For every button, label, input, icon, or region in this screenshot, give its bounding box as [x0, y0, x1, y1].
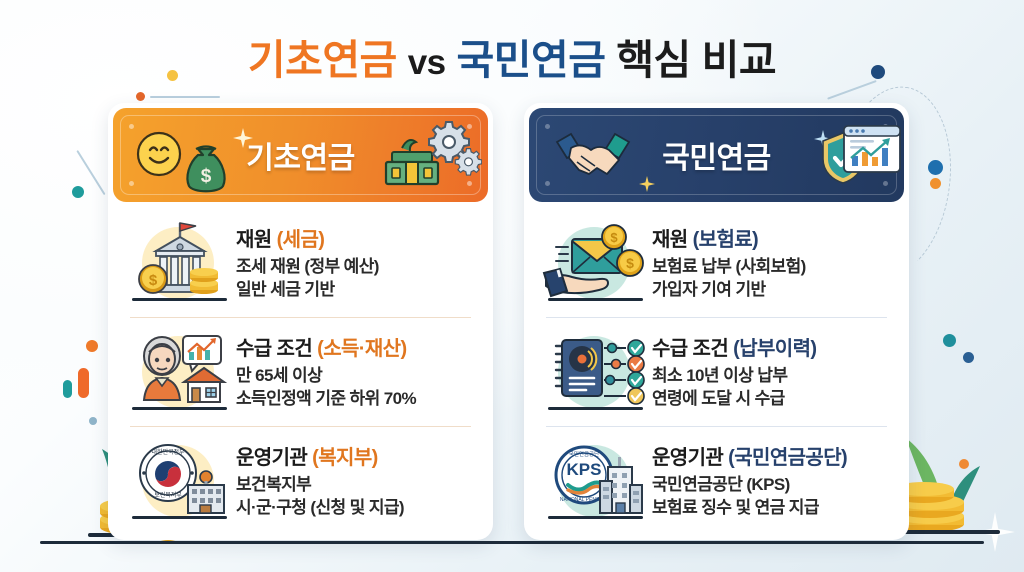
deco-dot-orange-c — [959, 459, 969, 469]
icon-baseline — [548, 516, 643, 519]
row-authority-national: KPS 국민연금공단 NATIONAL PENSION — [524, 426, 909, 535]
bottom-rule — [40, 541, 984, 544]
row-heading-accent: (보험료) — [693, 229, 759, 251]
deco-dot-teal-b — [943, 334, 956, 347]
row-heading-main: 운영기관 — [652, 447, 723, 469]
row-heading: 재원 (세금) — [236, 223, 479, 252]
row-eligibility-basic: 수급 조건 (소득·재산) 만 65세 이상 소득인정액 기준 하위 70% — [108, 317, 493, 426]
svg-text:보건복지부: 보건복지부 — [154, 491, 182, 499]
row-heading: 수급 조건 (납부이력) — [652, 332, 895, 361]
icon-baseline — [132, 298, 227, 301]
svg-text:국민연금공단: 국민연금공단 — [569, 450, 599, 458]
row-text: 운영기관 (복지부) 보건복지부 시·군·구청 (신청 및 지급) — [230, 441, 479, 519]
deco-dot-orange-d — [86, 340, 98, 352]
row-heading-main: 수급 조건 — [236, 338, 312, 360]
row-detail-line: 가입자 기여 기반 — [652, 279, 895, 302]
row-detail-line: 시·군·구청 (신청 및 지급) — [236, 497, 479, 520]
deco-bar-orange — [78, 368, 89, 398]
row-heading: 운영기관 (국민연금공단) — [652, 441, 895, 470]
elderly-person-chart-house-icon — [126, 326, 230, 418]
svg-text:KPS: KPS — [567, 460, 602, 479]
row-heading-main: 재원 — [236, 229, 272, 251]
row-authority-basic: 대한민국정부 보건복지부 — [108, 426, 493, 535]
row-detail-line: 보건복지부 — [236, 474, 479, 497]
card-header-national: 국민연금 — [529, 108, 904, 202]
row-icon-wrap: $ $ — [542, 217, 646, 309]
card-basic-pension: $ — [108, 103, 493, 540]
row-icon-wrap: $ — [126, 217, 230, 309]
row-heading: 재원 (보험료) — [652, 223, 895, 252]
svg-text:$: $ — [610, 230, 618, 245]
deco-dot-teal-a — [72, 186, 84, 198]
row-detail-line: 소득인정액 기준 하위 70% — [236, 388, 479, 411]
svg-text:$: $ — [626, 255, 634, 271]
svg-text:대한민국정부: 대한민국정부 — [151, 448, 185, 456]
row-icon-wrap: KPS 국민연금공단 NATIONAL PENSION — [542, 435, 646, 527]
hand-envelope-coins-icon: $ $ — [542, 217, 646, 309]
card-header-title-basic: 기초연금 — [113, 133, 488, 177]
card-national-pension: 국민연금 — [524, 103, 909, 540]
screw-icon — [545, 181, 550, 186]
sparkle-icon-topright — [930, 508, 956, 534]
row-heading-main: 재원 — [652, 229, 688, 251]
row-detail-line: 일반 세금 기반 — [236, 279, 479, 302]
screw-icon — [545, 124, 550, 129]
title-part-compare: 핵심 비교 — [616, 37, 776, 83]
rows-national: $ $ 재원 (보험료) 보험료 납부 (사회보험) — [524, 202, 909, 535]
row-heading-accent: (납부이력) — [733, 338, 816, 360]
row-icon-wrap — [126, 326, 230, 418]
screw-icon — [129, 124, 134, 129]
kps-emblem-building-icon: KPS 국민연금공단 NATIONAL PENSION — [542, 435, 646, 527]
row-heading-accent: (복지부) — [312, 447, 378, 469]
infographic-canvas: $ 기초연금 vs 국민연금 핵심 비교 — [0, 0, 1024, 572]
row-heading-accent: (세금) — [277, 229, 325, 251]
payment-record-checklist-icon — [542, 326, 646, 418]
row-detail-line: 보험료 납부 (사회보험) — [652, 256, 895, 279]
row-text: 수급 조건 (납부이력) 최소 10년 이상 납부 연령에 도달 시 수급 — [646, 332, 895, 410]
row-detail-line: 국민연금공단 (KPS) — [652, 474, 895, 497]
row-text: 재원 (보험료) 보험료 납부 (사회보험) 가입자 기여 기반 — [646, 223, 895, 301]
icon-baseline — [132, 516, 227, 519]
svg-text:$: $ — [149, 272, 158, 289]
row-text: 운영기관 (국민연금공단) 국민연금공단 (KPS) 보험료 징수 및 연금 지… — [646, 441, 895, 519]
row-detail-line: 보험료 징수 및 연금 지급 — [652, 497, 895, 520]
deco-line-b — [77, 150, 106, 195]
row-detail-line: 조세 재원 (정부 예산) — [236, 256, 479, 279]
icon-baseline — [548, 407, 643, 410]
row-icon-wrap — [542, 326, 646, 418]
sparkle-icon — [639, 176, 655, 192]
deco-line-a — [150, 96, 220, 98]
deco-dot-steel — [89, 417, 97, 425]
row-funding-national: $ $ 재원 (보험료) 보험료 납부 (사회보험) — [524, 208, 909, 317]
screw-icon — [129, 181, 134, 186]
rows-basic: $ 재원 (세금) 조세 재원 (정부 예산) 일반 세금 기반 — [108, 202, 493, 535]
row-heading-accent: (소득·재산) — [317, 338, 406, 360]
deco-bar-teal — [63, 380, 72, 398]
row-detail-line: 만 65세 이상 — [236, 365, 479, 388]
row-detail-line: 연령에 도달 시 수급 — [652, 388, 895, 411]
deco-dot-navy-c — [963, 352, 974, 363]
row-heading-main: 수급 조건 — [652, 338, 728, 360]
row-heading-main: 운영기관 — [236, 447, 307, 469]
row-text: 수급 조건 (소득·재산) 만 65세 이상 소득인정액 기준 하위 70% — [230, 332, 479, 410]
row-heading: 운영기관 (복지부) — [236, 441, 479, 470]
icon-baseline — [132, 407, 227, 410]
deco-dot-navy-b — [928, 160, 943, 175]
korea-government-emblem-building-icon: 대한민국정부 보건복지부 — [126, 435, 230, 527]
deco-dot-orange-b — [930, 178, 941, 189]
title-part-national: 국민연금 — [457, 37, 606, 83]
title-vs: vs — [408, 43, 446, 82]
card-header-title-national: 국민연금 — [529, 133, 904, 177]
row-funding-basic: $ 재원 (세금) 조세 재원 (정부 예산) 일반 세금 기반 — [108, 208, 493, 317]
row-eligibility-national: 수급 조건 (납부이력) 최소 10년 이상 납부 연령에 도달 시 수급 — [524, 317, 909, 426]
screw-icon — [467, 181, 472, 186]
title-part-basic: 기초연금 — [248, 37, 397, 83]
row-detail-line: 최소 10년 이상 납부 — [652, 365, 895, 388]
row-heading-accent: (국민연금공단) — [728, 447, 847, 469]
deco-dot-orange-a — [136, 92, 145, 101]
government-bank-coins-icon: $ — [126, 217, 230, 309]
row-text: 재원 (세금) 조세 재원 (정부 예산) 일반 세금 기반 — [230, 223, 479, 301]
card-header-basic: $ — [113, 108, 488, 202]
row-heading: 수급 조건 (소득·재산) — [236, 332, 479, 361]
screw-icon — [883, 181, 888, 186]
page-title: 기초연금 vs 국민연금 핵심 비교 — [0, 26, 1024, 86]
row-icon-wrap: 대한민국정부 보건복지부 — [126, 435, 230, 527]
icon-baseline — [548, 298, 643, 301]
sparkle-icon-right — [975, 512, 1015, 552]
